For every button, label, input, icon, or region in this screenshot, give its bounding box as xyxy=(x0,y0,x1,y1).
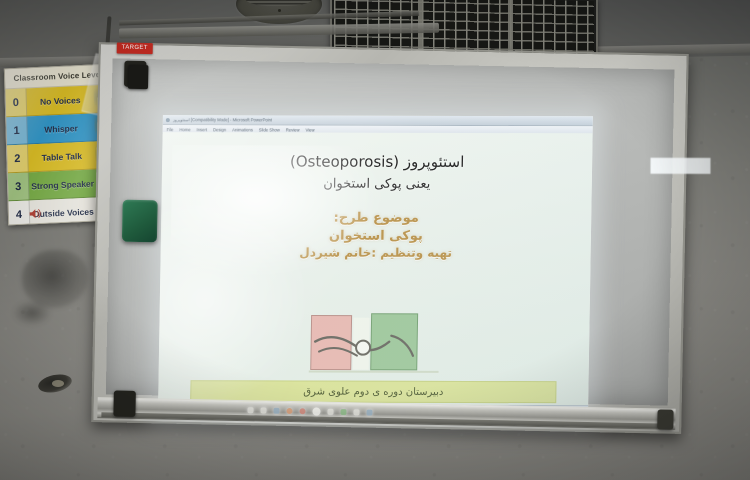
wall-smudge xyxy=(12,300,52,326)
leaf-icon xyxy=(340,409,346,415)
board-clip[interactable] xyxy=(128,65,148,89)
voice-level-number: 1 xyxy=(6,116,28,144)
slide-author-line: تهیه وتنظیم :خانم شیردل xyxy=(161,244,591,261)
slide-canvas[interactable]: استئوپروز (Osteoporosis) یعنی پوکی استخو… xyxy=(158,132,593,406)
start-icon xyxy=(247,407,253,413)
folder-icon xyxy=(260,407,266,413)
slide-topic-label: موضوع طرح: xyxy=(161,209,591,228)
slide-topic-value: پوکی استخوان xyxy=(161,227,591,246)
wall-chip xyxy=(52,380,64,387)
board-corner-bracket xyxy=(657,409,673,429)
circle-icon xyxy=(312,407,320,415)
photo-scene: Classroom Voice Level 0 No Voices 1 Whis… xyxy=(0,0,750,480)
voice-level-number: 2 xyxy=(7,144,29,172)
projector-light-spill xyxy=(650,158,710,174)
slide-gold-block: موضوع طرح: پوکی استخوان تهیه وتنظیم :خان… xyxy=(161,209,592,261)
voice-level-number: 4 xyxy=(9,200,31,225)
menu-item-view[interactable]: View xyxy=(306,127,315,132)
voice-level-number: 3 xyxy=(8,172,30,200)
whiteboard: استئوپروز [Compatibility Mode] - Microso… xyxy=(91,42,689,434)
voice-level-label: Strong Speaker xyxy=(29,178,96,191)
menu-item-home[interactable]: Home xyxy=(179,127,190,132)
board-red-label: TARGET xyxy=(117,42,153,54)
grid-icon xyxy=(353,409,359,415)
dot-icon xyxy=(366,410,372,416)
app-icon xyxy=(327,409,333,415)
menu-item-review[interactable]: Review xyxy=(286,127,300,132)
speaker-icon xyxy=(29,207,42,221)
voice-level-label: Whisper xyxy=(27,122,94,135)
board-red-label-text: TARGET xyxy=(117,42,153,54)
voice-level-number: 0 xyxy=(5,88,27,116)
whiteboard-surface[interactable]: استئوپروز [Compatibility Mode] - Microso… xyxy=(106,58,675,405)
slide-title: استئوپروز (Osteoporosis) xyxy=(162,152,592,171)
warning-icon xyxy=(286,408,292,414)
diffuser-slats xyxy=(245,0,314,6)
menu-item-slideshow[interactable]: Slide Show xyxy=(259,127,280,132)
green-board-eraser[interactable] xyxy=(122,200,158,243)
menu-item-animations[interactable]: Animations xyxy=(232,127,253,132)
menu-item-file[interactable]: File xyxy=(167,127,174,132)
projected-slide[interactable]: استئوپروز [Compatibility Mode] - Microso… xyxy=(158,115,593,416)
media-icon xyxy=(299,408,305,414)
diffuser-screw xyxy=(278,9,281,12)
slide-subtitle: یعنی پوکی استخوان xyxy=(162,176,592,192)
school-name: دبیرستان دوره ی دوم علوی شرق xyxy=(303,386,443,397)
menu-item-insert[interactable]: Insert xyxy=(197,127,208,132)
board-corner-bracket xyxy=(113,390,136,416)
elbow-joint-illustration-icon xyxy=(309,312,440,378)
browser-icon xyxy=(273,408,279,414)
app-icon xyxy=(166,118,170,122)
voice-level-label: Table Talk xyxy=(28,150,95,163)
window-title: استئوپروز [Compatibility Mode] - Microso… xyxy=(173,117,272,122)
menu-item-design[interactable]: Design xyxy=(213,127,226,132)
whiteboard-frame: استئوپروز [Compatibility Mode] - Microso… xyxy=(91,42,689,434)
